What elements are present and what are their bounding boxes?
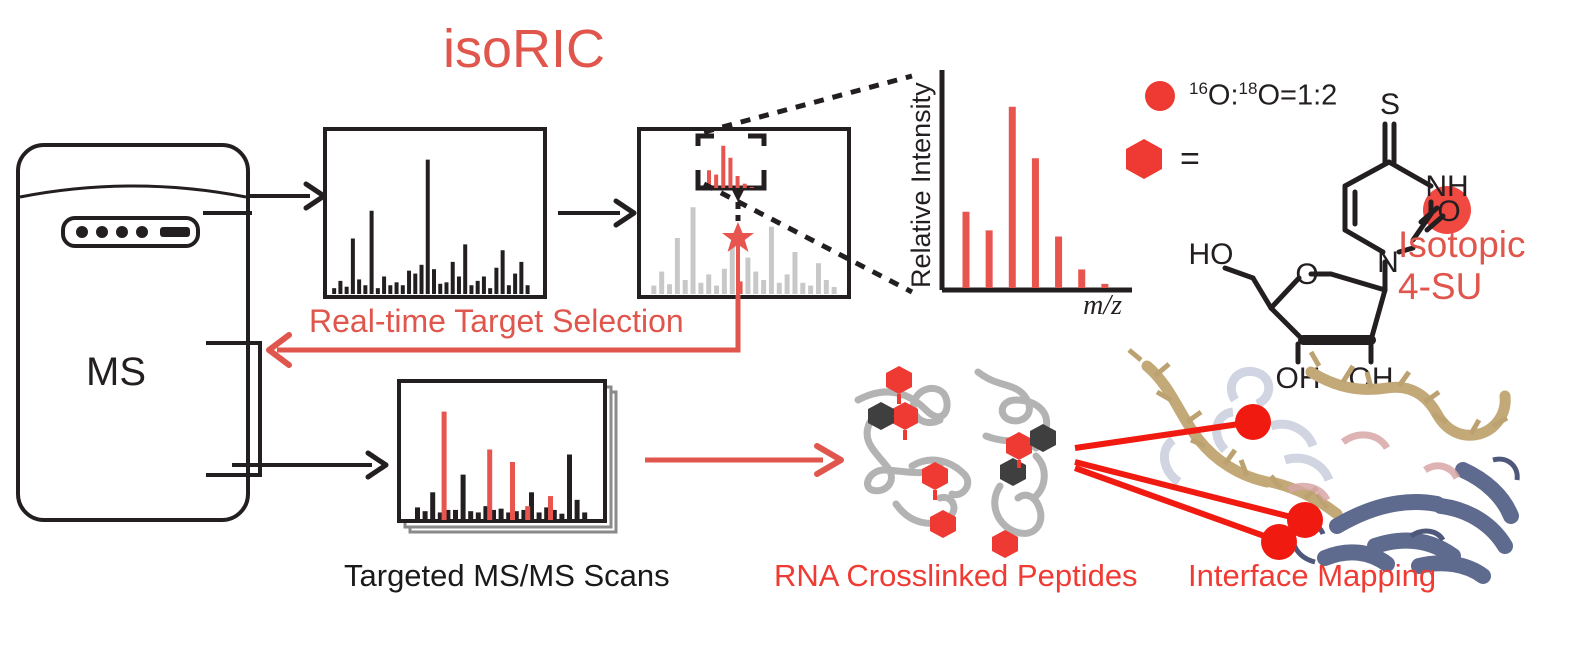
interface-dot xyxy=(1235,404,1271,440)
red-hexagon-icon xyxy=(1126,139,1162,179)
page-title: isoRIC xyxy=(443,18,605,80)
isotope-peaks xyxy=(966,107,1105,288)
ms-panel-dash xyxy=(160,227,190,237)
atom-label-ho: HO xyxy=(1189,238,1234,271)
arrow-survey-to-precursor xyxy=(558,193,648,233)
y-axis-label: Relative Intensity xyxy=(906,82,936,288)
ms-label: MS xyxy=(86,350,146,394)
x-axis-label: m/z xyxy=(1083,290,1122,321)
molecule-caption-line2: 4-SU xyxy=(1398,266,1526,308)
ms-panel-dot xyxy=(136,226,148,238)
caption-targeted-msms: Targeted MS/MS Scans xyxy=(344,558,670,594)
ms-body xyxy=(18,145,248,520)
caption-crosslinked-peptides: RNA Crosslinked Peptides xyxy=(774,558,1138,594)
interface-dot xyxy=(1261,524,1297,560)
atom-label-ring-o: O xyxy=(1295,258,1318,291)
atom-label-n1: N xyxy=(1377,246,1399,279)
targeted-msms-panel xyxy=(396,378,631,543)
ms-panel-dot xyxy=(116,226,128,238)
ms-panel-dot xyxy=(76,226,88,238)
ms1-survey-panel xyxy=(322,126,548,300)
arrow-ms-to-msms xyxy=(232,445,402,485)
isotope-zoom-chart: Relative Intensity m/z xyxy=(900,62,1150,312)
molecule-caption: Isotopic 4-SU xyxy=(1398,224,1526,308)
ms-panel-dot xyxy=(96,226,108,238)
graphical-abstract: isoRIC MS xyxy=(0,0,1587,651)
red-circle-icon xyxy=(1145,81,1175,111)
molecule-caption-line1: Isotopic xyxy=(1398,224,1526,266)
atom-label-s: S xyxy=(1380,88,1400,121)
msms-frame-front xyxy=(399,381,605,521)
interface-mapping-structure xyxy=(1075,330,1545,580)
caption-interface-mapping: Interface Mapping xyxy=(1188,558,1436,594)
arrow-msms-to-peptides xyxy=(645,440,855,480)
realtime-selection-label: Real-time Target Selection xyxy=(309,303,684,340)
